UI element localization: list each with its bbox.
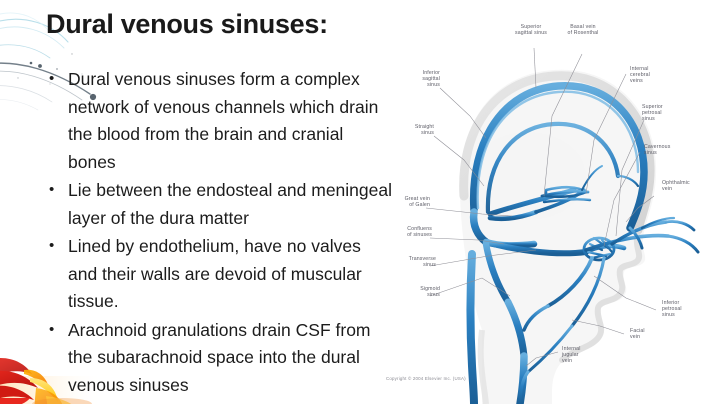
slide: Dural venous sinuses: Dural venous sinus… <box>0 0 720 404</box>
slide-title: Dural venous sinuses: <box>46 9 328 40</box>
head-vasculature-illustration <box>386 0 720 404</box>
dural-venous-sinuses-diagram: Superior sagittal sinus Basal vein of Ro… <box>386 0 720 404</box>
bullet-item: Lie between the endosteal and meningeal … <box>44 177 394 232</box>
bullet-item: Arachnoid granulations drain CSF from th… <box>44 317 394 400</box>
bullet-list: Dural venous sinuses form a complex netw… <box>44 66 394 400</box>
copyright-notice: Copyright © 2004 Elsevier Inc. (USA) <box>386 376 466 381</box>
bullet-item: Lined by endothelium, have no valves and… <box>44 233 394 316</box>
bullet-item: Dural venous sinuses form a complex netw… <box>44 66 394 176</box>
